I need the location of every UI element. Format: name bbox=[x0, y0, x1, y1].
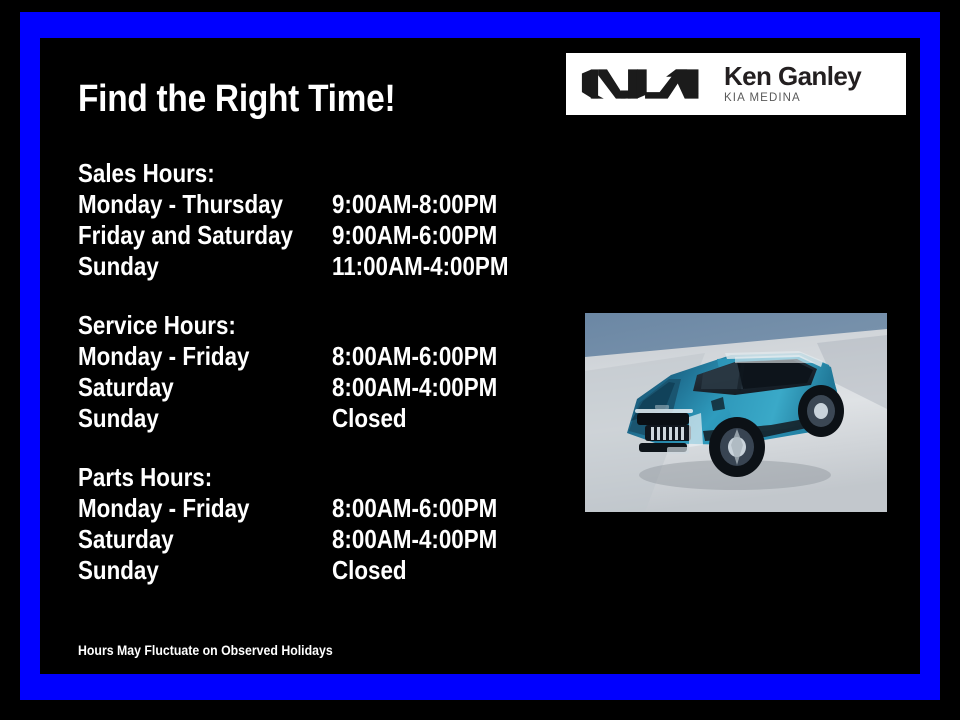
dealer-logo-card: Ken Ganley KIA MEDINA bbox=[566, 53, 906, 115]
dealer-name-block: Ken Ganley KIA MEDINA bbox=[724, 63, 861, 105]
hours-row-day: Friday and Saturday bbox=[78, 220, 293, 251]
hours-row-day: Sunday bbox=[78, 251, 159, 282]
hours-row: Saturday8:00AM-4:00PM bbox=[78, 372, 548, 403]
dealer-name: Ken Ganley bbox=[724, 63, 861, 90]
hours-group-heading: Service Hours: bbox=[78, 310, 482, 341]
hours-row-day: Saturday bbox=[78, 524, 174, 555]
page-title: Find the Right Time! bbox=[78, 77, 395, 121]
hours-row-time: 9:00AM-8:00PM bbox=[332, 189, 497, 220]
hours-row-day: Sunday bbox=[78, 403, 159, 434]
hours-group-heading: Parts Hours: bbox=[78, 462, 482, 493]
hours-row-day: Monday - Thursday bbox=[78, 189, 283, 220]
hours-group: Service Hours:Monday - Friday8:00AM-6:00… bbox=[78, 310, 548, 434]
hours-row: SundayClosed bbox=[78, 555, 548, 586]
hours-row: Monday - Thursday9:00AM-8:00PM bbox=[78, 189, 548, 220]
hours-row: Monday - Friday8:00AM-6:00PM bbox=[78, 341, 548, 372]
hours-row: Monday - Friday8:00AM-6:00PM bbox=[78, 493, 548, 524]
hours-row-time: Closed bbox=[332, 403, 407, 434]
hours-row-day: Sunday bbox=[78, 555, 159, 586]
holiday-disclaimer: Hours May Fluctuate on Observed Holidays bbox=[78, 641, 333, 659]
hours-group: Sales Hours:Monday - Thursday9:00AM-8:00… bbox=[78, 158, 548, 282]
hours-row: Sunday11:00AM-4:00PM bbox=[78, 251, 548, 282]
hours-group: Parts Hours:Monday - Friday8:00AM-6:00PM… bbox=[78, 462, 548, 586]
hours-row-time: 8:00AM-4:00PM bbox=[332, 524, 497, 555]
hours-row-day: Saturday bbox=[78, 372, 174, 403]
hours-row: Saturday8:00AM-4:00PM bbox=[78, 524, 548, 555]
hours-row: Friday and Saturday9:00AM-6:00PM bbox=[78, 220, 548, 251]
hours-row-time: 8:00AM-6:00PM bbox=[332, 341, 497, 372]
hours-row: SundayClosed bbox=[78, 403, 548, 434]
hours-row-time: 11:00AM-4:00PM bbox=[332, 251, 508, 282]
hours-row-day: Monday - Friday bbox=[78, 493, 249, 524]
kia-ev9-suv-photo bbox=[585, 313, 887, 512]
dealer-subtitle: KIA MEDINA bbox=[724, 91, 861, 105]
slide-canvas: Find the Right Time! Sales Hours:Monday … bbox=[0, 0, 960, 720]
hours-row-time: 8:00AM-6:00PM bbox=[332, 493, 497, 524]
kia-logo-icon bbox=[580, 67, 702, 101]
hours-row-time: Closed bbox=[332, 555, 407, 586]
hours-row-time: 9:00AM-6:00PM bbox=[332, 220, 497, 251]
hours-group-heading: Sales Hours: bbox=[78, 158, 482, 189]
hours-list: Sales Hours:Monday - Thursday9:00AM-8:00… bbox=[78, 158, 548, 586]
hours-row-day: Monday - Friday bbox=[78, 341, 249, 372]
hours-row-time: 8:00AM-4:00PM bbox=[332, 372, 497, 403]
